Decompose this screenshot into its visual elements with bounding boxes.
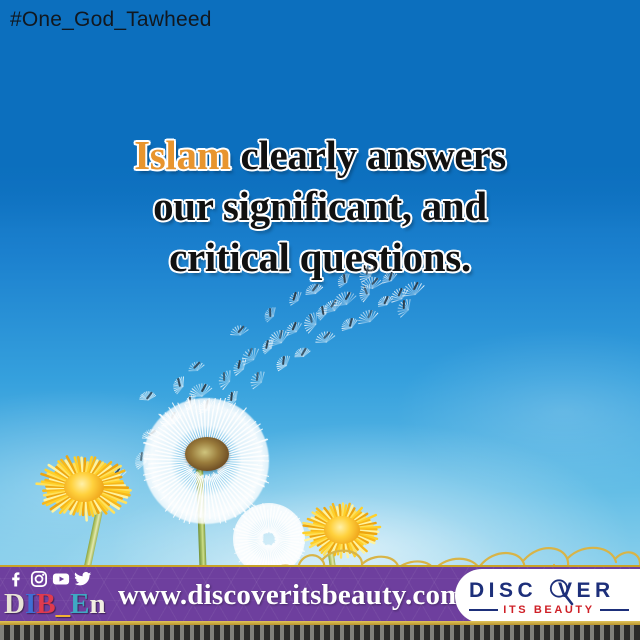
instagram-icon[interactable]: [30, 570, 48, 588]
tagline-rule-left: [469, 609, 498, 611]
yellow-flower-left: [28, 452, 140, 524]
dib-handle-letter-1: I: [25, 589, 36, 619]
flower-right-core: [324, 516, 360, 544]
yellow-flower-right: [296, 500, 388, 562]
dib-handle-letter-5: n: [89, 589, 105, 619]
dib-handle-letter-0: D: [4, 589, 25, 619]
hashtag-text: #One_God_Tawheed: [10, 8, 212, 32]
headline-line-2: our significant, and: [0, 181, 640, 232]
headline-line-1-rest: clearly answers: [231, 132, 506, 178]
facebook-icon[interactable]: [8, 570, 26, 588]
brand-logo-pill[interactable]: DISCOVER ITS BEAUTY: [455, 569, 640, 623]
headline-line-3: critical questions.: [0, 232, 640, 283]
social-icons-row: [8, 570, 92, 588]
dandelion-receptacle: [185, 437, 229, 471]
poster: #One_God_Tawheed Islam clearly answers o…: [0, 0, 640, 640]
website-url[interactable]: www.discoveritsbeauty.com: [118, 579, 465, 612]
dib-handle-letter-3: _: [56, 589, 71, 619]
twitter-icon[interactable]: [74, 570, 92, 588]
brand-tagline-row: ITS BEAUTY: [469, 604, 629, 616]
dib-handle-letter-2: B: [36, 589, 55, 619]
film-strip-edge: [0, 625, 640, 640]
dib-handle-letter-4: E: [70, 589, 89, 619]
headline: Islam clearly answers our significant, a…: [0, 130, 640, 283]
magnifying-glass-icon: [547, 577, 575, 607]
headline-accent-word: Islam: [134, 132, 230, 178]
brand-name-part1: DISC: [469, 579, 537, 602]
tagline-rule-right: [600, 609, 629, 611]
brand-tagline: ITS BEAUTY: [503, 604, 594, 616]
dib-handle-logo: DIB_En: [4, 589, 106, 619]
headline-line-1: Islam clearly answers: [0, 130, 640, 181]
youtube-icon[interactable]: [52, 570, 70, 588]
flower-left-core: [64, 472, 104, 502]
